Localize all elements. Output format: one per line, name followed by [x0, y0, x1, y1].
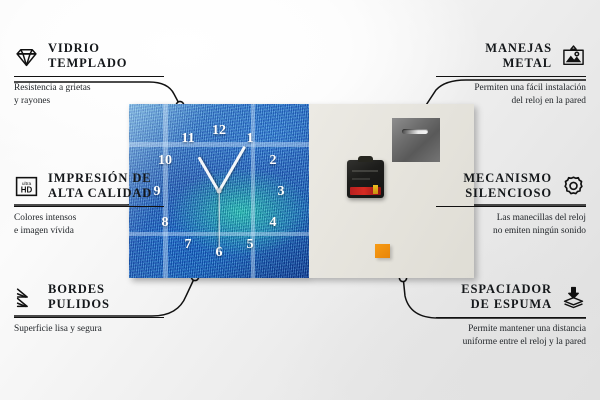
callout-title-line1: ESPACIADOR — [461, 282, 552, 296]
clock-numeral-7: 7 — [185, 238, 192, 252]
gear-icon — [561, 174, 586, 199]
callout-title: VIDRIO TEMPLADO — [48, 41, 127, 72]
callout-title-line2: SILENCIOSO — [465, 186, 552, 200]
callout-description: Superficie lisa y segura — [14, 323, 164, 336]
ultra-hd-icon: ultra HD — [14, 174, 39, 199]
callout-title-line1: MANEJAS — [485, 41, 552, 55]
callout-title: BORDES PULIDOS — [48, 282, 110, 313]
clock-numeral-1: 1 — [247, 132, 254, 146]
clock-numeral-12: 12 — [212, 124, 226, 138]
callout-manejas-metal: MANEJAS METAL Permiten una fácil instala… — [436, 41, 586, 107]
mechanism-tab — [358, 156, 373, 162]
callout-header: ultra HD IMPRESIÓN DE ALTA CALIDAD — [14, 171, 164, 202]
callout-bordes-pulidos: BORDES PULIDOS Superficie lisa y segura — [14, 282, 164, 336]
mechanism-detail — [352, 170, 378, 172]
callout-title: MANEJAS METAL — [485, 41, 552, 72]
diagonal-lines-icon — [14, 285, 39, 310]
callout-vidrio-templado: VIDRIO TEMPLADO Resistencia a grietas y … — [14, 41, 164, 107]
callout-title: MECANISMO SILENCIOSO — [463, 171, 552, 202]
callout-header: ESPACIADOR DE ESPUMA — [436, 282, 586, 313]
arrow-onto-layers-icon — [561, 285, 586, 310]
callout-rule — [436, 317, 586, 319]
clock-numeral-3: 3 — [278, 185, 285, 199]
callout-description: Las manecillas del reloj no emiten ningú… — [436, 212, 586, 237]
callout-rule — [436, 76, 586, 78]
callout-title-line2: TEMPLADO — [48, 56, 127, 70]
clock-numeral-4: 4 — [270, 216, 277, 230]
callout-title-line1: BORDES — [48, 282, 105, 296]
callout-rule — [14, 206, 164, 208]
callout-rule — [14, 76, 164, 78]
callout-header: MECANISMO SILENCIOSO — [436, 171, 586, 202]
callout-title-line1: VIDRIO — [48, 41, 100, 55]
callout-mecanismo-silencioso: MECANISMO SILENCIOSO Las manecillas del … — [436, 171, 586, 237]
diamond-icon — [14, 44, 39, 69]
callout-title-line2: DE ESPUMA — [471, 297, 552, 311]
metal-hanger — [392, 118, 440, 162]
hanger-slot — [402, 129, 428, 134]
callout-rule — [436, 206, 586, 208]
callout-title: IMPRESIÓN DE ALTA CALIDAD — [48, 171, 152, 202]
callout-title: ESPACIADOR DE ESPUMA — [461, 282, 552, 313]
callout-header: VIDRIO TEMPLADO — [14, 41, 164, 72]
product-photo: 12 1 2 3 4 5 6 7 8 9 10 11 — [129, 104, 474, 278]
callout-title-line2: ALTA CALIDAD — [48, 186, 152, 200]
mechanism-detail — [352, 178, 370, 180]
callout-description: Permiten una fácil instalación del reloj… — [436, 82, 586, 107]
callout-description: Colores intensos e imagen vívida — [14, 212, 164, 237]
callout-header: MANEJAS METAL — [436, 41, 586, 72]
callout-title-line1: MECANISMO — [463, 171, 552, 185]
callout-rule — [14, 317, 164, 319]
clock-numeral-11: 11 — [181, 132, 194, 146]
clock-numeral-5: 5 — [247, 238, 254, 252]
infographic-stage: 12 1 2 3 4 5 6 7 8 9 10 11 — [0, 0, 600, 400]
clock-numeral-2: 2 — [270, 154, 277, 168]
svg-text:HD: HD — [21, 185, 33, 194]
picture-frame-icon — [561, 44, 586, 69]
callout-description: Resistencia a grietas y rayones — [14, 82, 164, 107]
callout-title-line1: IMPRESIÓN DE — [48, 171, 152, 185]
callout-espaciador-espuma: ESPACIADOR DE ESPUMA Permite mantener un… — [436, 282, 586, 348]
battery — [350, 187, 381, 195]
callout-description: Permite mantener una distancia uniforme … — [436, 323, 586, 348]
callout-impresion-alta-calidad: ultra HD IMPRESIÓN DE ALTA CALIDAD Color… — [14, 171, 164, 237]
callout-title-line2: METAL — [503, 56, 552, 70]
quartz-mechanism — [347, 160, 384, 198]
clock-numeral-10: 10 — [158, 154, 172, 168]
callout-title-line2: PULIDOS — [48, 297, 110, 311]
callout-header: BORDES PULIDOS — [14, 282, 164, 313]
foam-spacer — [375, 244, 390, 258]
clock-second-hand — [218, 191, 219, 249]
clock-pivot — [217, 189, 222, 194]
